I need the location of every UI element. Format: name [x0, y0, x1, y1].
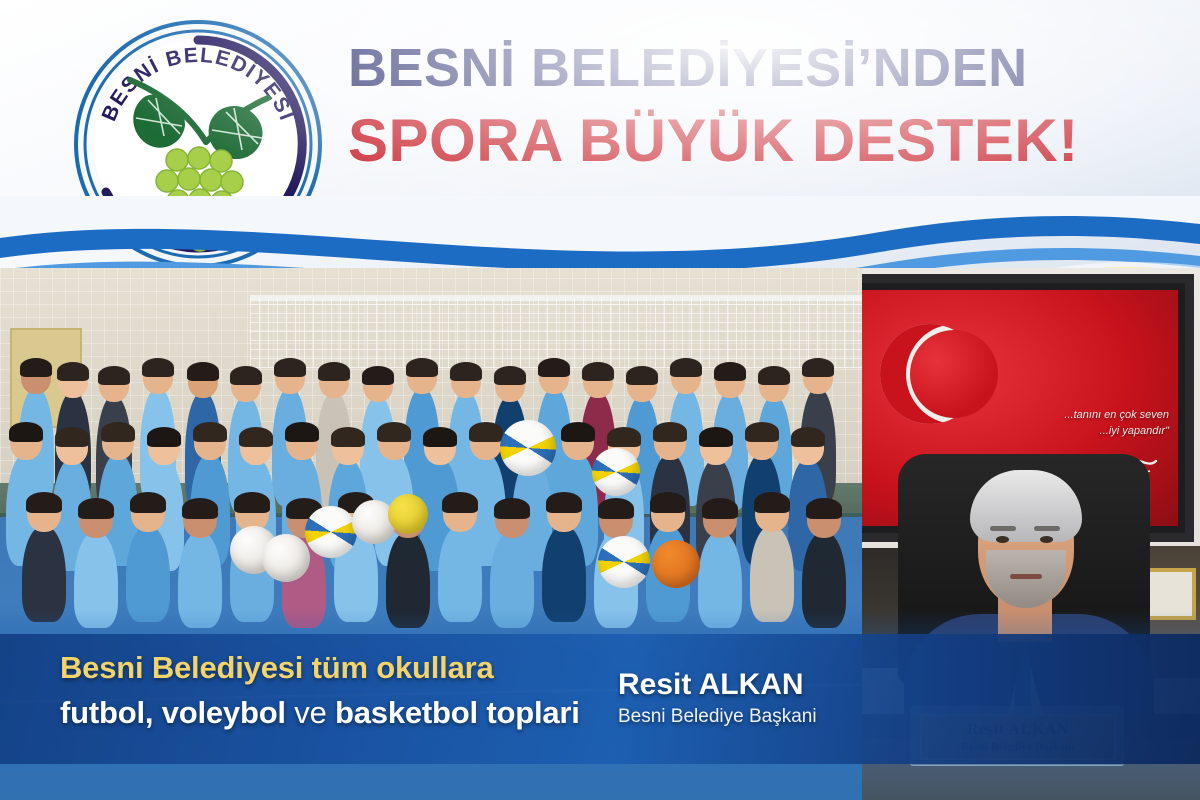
person-silhouette	[698, 532, 742, 628]
banner-line-2-bold-a: futbol, voleybol	[60, 695, 286, 730]
person-silhouette	[490, 532, 534, 628]
person-hair	[193, 422, 227, 442]
person-hair	[20, 358, 52, 377]
person-hair	[806, 498, 842, 519]
headline-line-2: SPORA BÜYÜK DESTEK!	[348, 109, 1138, 173]
banner-person: Resit ALKAN Besni Belediye Başkani	[618, 668, 918, 728]
person-hair	[230, 366, 262, 385]
person-hair	[26, 492, 62, 513]
volleyball-icon	[592, 448, 640, 496]
person-hair	[406, 358, 438, 377]
person-hair	[802, 358, 834, 377]
person-hair	[450, 362, 482, 381]
person-hair	[626, 366, 658, 385]
person-hair	[130, 492, 166, 513]
mayor-mouth	[1010, 574, 1042, 579]
person-hair	[754, 492, 790, 513]
person-hair	[285, 422, 319, 442]
person-hair	[607, 427, 641, 447]
person-hair	[142, 358, 174, 377]
person-silhouette	[438, 526, 482, 622]
volleyball-icon	[305, 506, 357, 558]
person-hair	[538, 358, 570, 377]
person-hair	[714, 362, 746, 381]
person-hair	[55, 427, 89, 447]
basketball-icon	[652, 540, 700, 588]
banner-person-name: Resit ALKAN	[618, 668, 918, 702]
person-hair	[362, 366, 394, 385]
ball-icon	[388, 494, 428, 534]
person-hair	[745, 422, 779, 442]
person-hair	[9, 422, 43, 442]
person-hair	[469, 422, 503, 442]
person-hair	[318, 362, 350, 381]
mayor-eye-right	[1040, 536, 1053, 543]
person-hair	[57, 362, 89, 381]
person-hair	[234, 492, 270, 513]
person-hair	[98, 366, 130, 385]
person-hair	[546, 492, 582, 513]
banner-line-2-bold-c: basketbol toplari	[335, 695, 580, 730]
person-hair	[377, 422, 411, 442]
banner-message: Besni Belediyesi tüm okullara futbol, vo…	[60, 650, 620, 731]
mayor-brow-right	[1034, 526, 1060, 531]
header-section: BESNİ BELEDİYESİ	[0, 0, 1200, 268]
person-hair	[442, 492, 478, 513]
banner-line-2-connector: ve	[286, 695, 335, 730]
person-hair	[182, 498, 218, 519]
mayor-hair	[970, 470, 1082, 542]
banner-line-2: futbol, voleybol ve basketbol toplari	[60, 695, 620, 731]
mayor-brow-left	[990, 526, 1016, 531]
person-hair	[670, 358, 702, 377]
person-hair	[758, 366, 790, 385]
mayor-eye-left	[996, 536, 1009, 543]
person-silhouette	[178, 532, 222, 628]
person-silhouette	[750, 526, 794, 622]
person-hair	[494, 366, 526, 385]
person-hair	[187, 362, 219, 381]
person-hair	[561, 422, 595, 442]
person-hair	[653, 422, 687, 442]
person-hair	[598, 498, 634, 519]
logo-arc-text: BESNİ BELEDİYESİ	[97, 44, 298, 125]
besni-belediyesi-logo: BESNİ BELEDİYESİ	[72, 18, 324, 268]
banner-person-role: Besni Belediye Başkani	[618, 706, 918, 728]
person-hair	[147, 427, 181, 447]
person-silhouette	[22, 526, 66, 622]
banner-line-1: Besni Belediyesi tüm okullara	[60, 650, 620, 686]
person-silhouette	[74, 532, 118, 628]
person-hair	[699, 427, 733, 447]
headline-line-1: BESNİ BELEDİYESİ’NDEN	[348, 40, 1138, 97]
person-hair	[494, 498, 530, 519]
person-hair	[274, 358, 306, 377]
logo-svg: BESNİ BELEDİYESİ	[72, 18, 324, 268]
person-hair	[331, 427, 365, 447]
person-hair	[101, 422, 135, 442]
person-silhouette	[542, 526, 586, 622]
poster-canvas: BESNİ BELEDİYESİ	[0, 0, 1200, 800]
person-silhouette	[126, 526, 170, 622]
ball-icon	[262, 534, 310, 582]
person-hair	[650, 492, 686, 513]
headline-block: BESNİ BELEDİYESİ’NDEN SPORA BÜYÜK DESTEK…	[348, 40, 1138, 173]
person-silhouette	[386, 532, 430, 628]
crescent-icon	[880, 324, 980, 424]
person-hair	[423, 427, 457, 447]
person-hair	[582, 362, 614, 381]
volleyball-icon	[598, 536, 650, 588]
grape-vine-graphic	[130, 80, 268, 251]
person-hair	[702, 498, 738, 519]
person-silhouette	[802, 532, 846, 628]
person-hair	[239, 427, 273, 447]
person-hair	[78, 498, 114, 519]
volleyball-icon	[500, 420, 556, 476]
person-hair	[791, 427, 825, 447]
